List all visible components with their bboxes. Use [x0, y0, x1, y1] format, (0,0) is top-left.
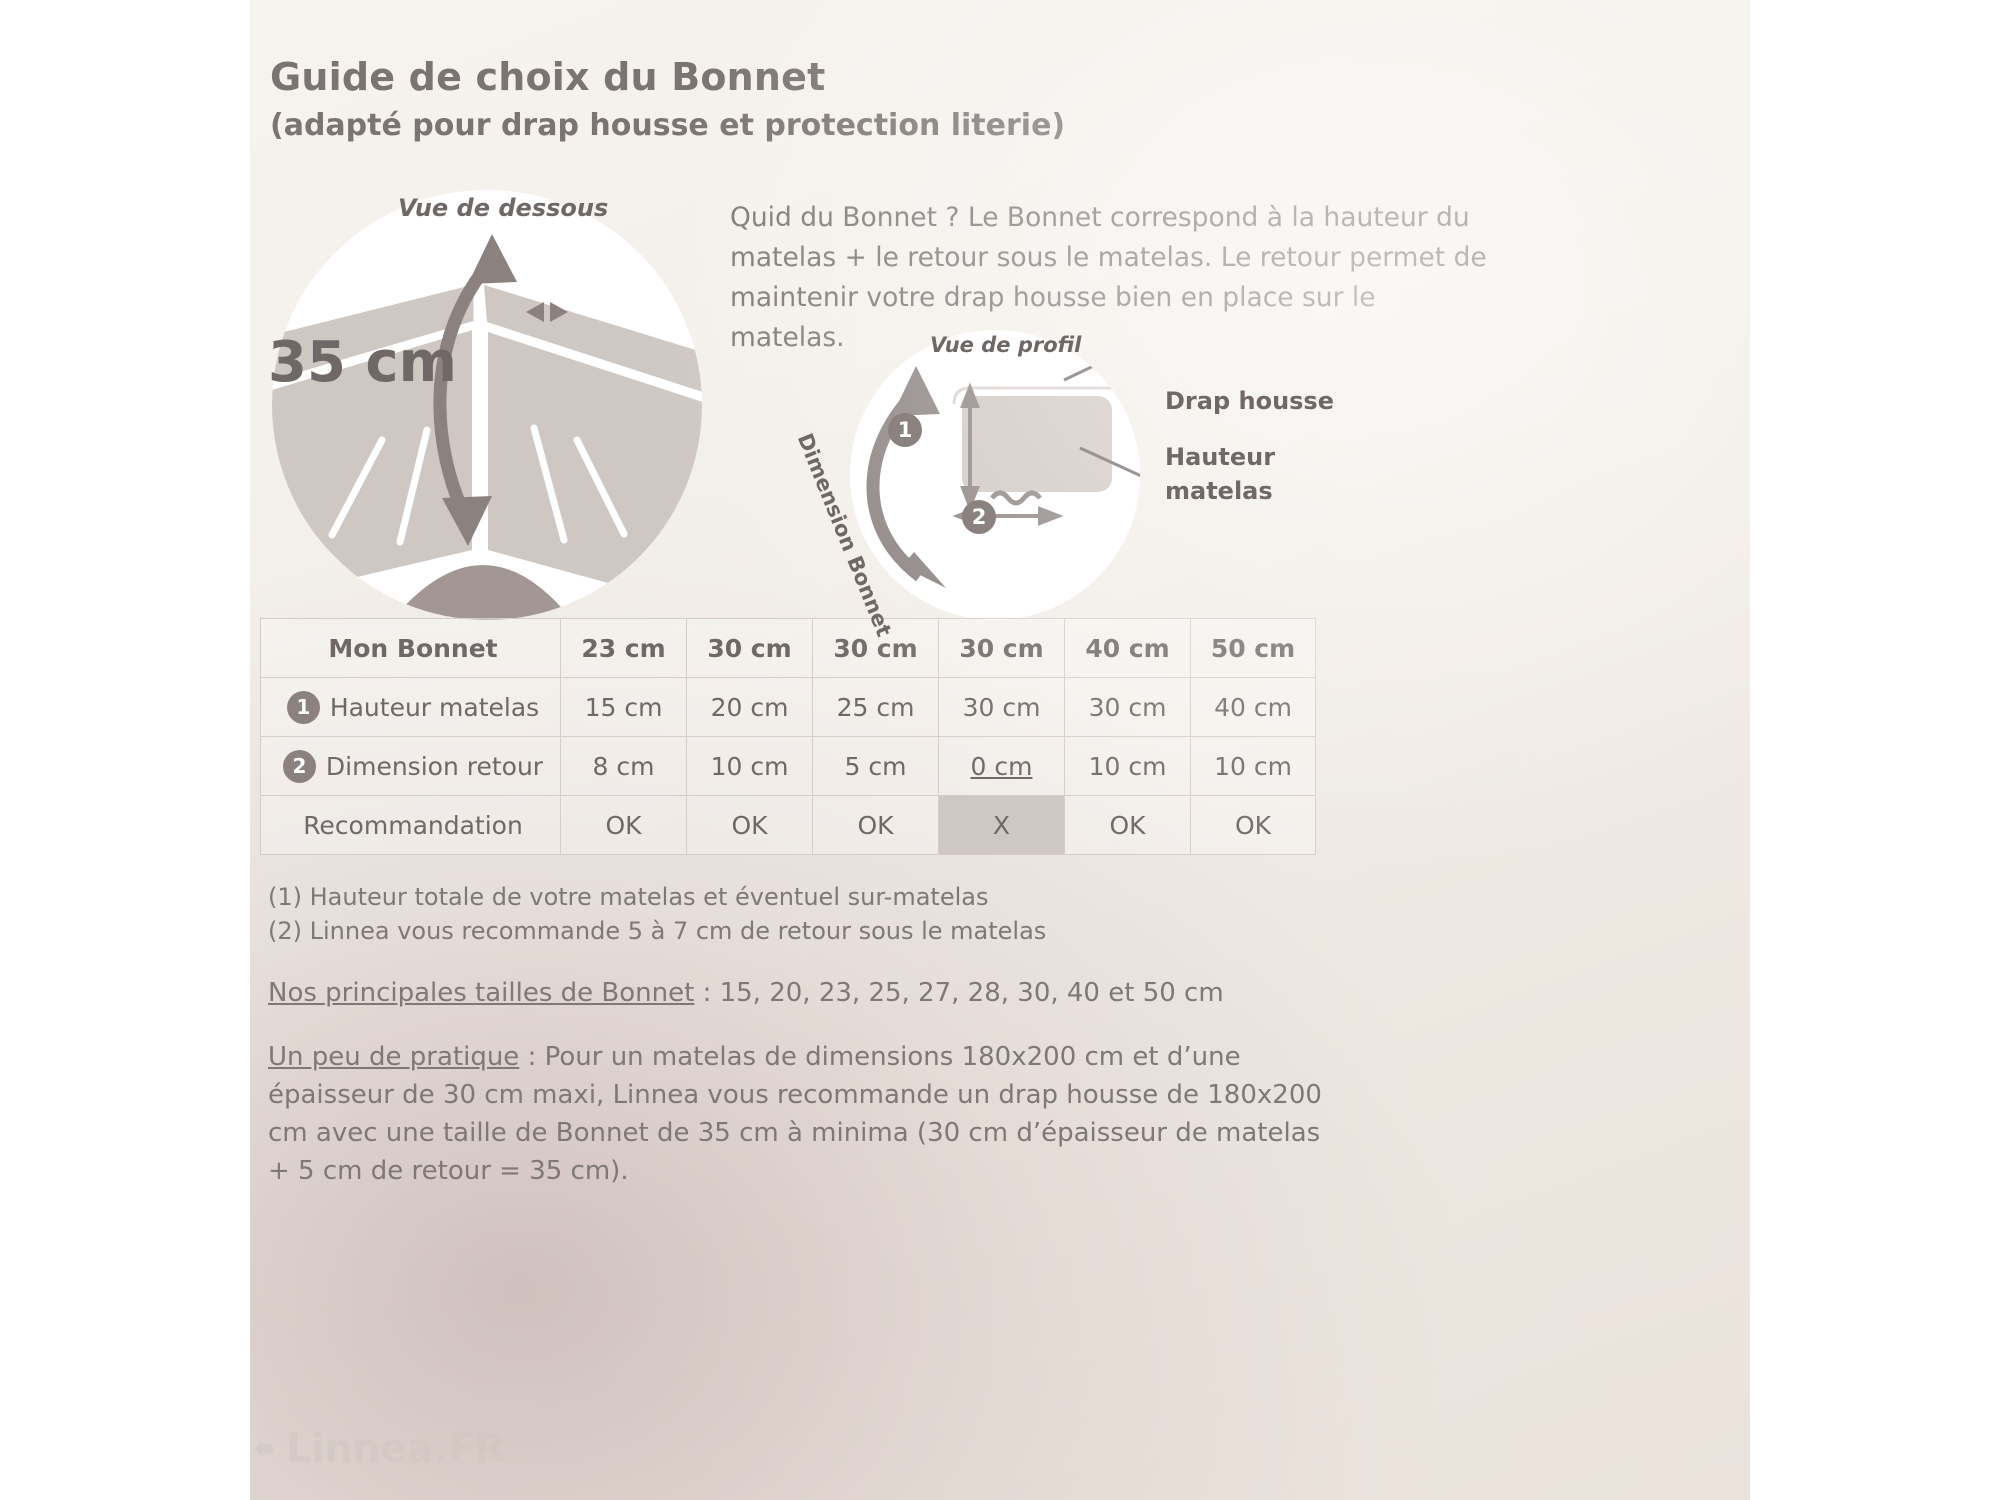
infographic-canvas: Guide de choix du Bonnet (adapté pour dr…: [250, 0, 1750, 1500]
practice-note-label: Un peu de pratique: [268, 1042, 519, 1072]
table-cell: OK: [561, 796, 687, 855]
table-col-header-6: 50 cm: [1191, 619, 1316, 678]
page-subtitle: (adapté pour drap housse et protection l…: [270, 108, 1065, 143]
profile-view-svg: [850, 330, 1140, 620]
profile-view-illustration: [850, 330, 1140, 620]
footnote-1: (1) Hauteur totale de votre matelas et é…: [268, 880, 1328, 914]
bonnet-table-wrapper: Mon Bonnet 23 cm 30 cm 30 cm 30 cm 40 cm…: [260, 618, 1315, 855]
intro-paragraph: Quid du Bonnet ? Le Bonnet correspond à …: [730, 198, 1490, 358]
table-cell: OK: [1065, 796, 1191, 855]
row-label-text: Recommandation: [303, 811, 523, 840]
table-cell: 15 cm: [561, 678, 687, 737]
row-label-text: Hauteur matelas: [330, 693, 539, 722]
leaf-icon: [250, 1436, 276, 1462]
profile-badge-1: 1: [888, 413, 922, 447]
row-label-recommandation: Recommandation: [261, 796, 561, 855]
table-cell: 10 cm: [687, 737, 813, 796]
profile-badge-2: 2: [962, 500, 996, 534]
table-header-row: Mon Bonnet 23 cm 30 cm 30 cm 30 cm 40 cm…: [261, 619, 1316, 678]
row-badge-1: 1: [287, 691, 320, 724]
row-label-hauteur-matelas: 1 Hauteur matelas: [261, 678, 561, 737]
logo-text: Linnea.FR: [286, 1426, 505, 1472]
callout-hauteur-line2: matelas: [1165, 477, 1273, 505]
callout-hauteur-line1: Hauteur: [1165, 443, 1275, 471]
bottom-view-corner-arrow: [272, 190, 702, 620]
bottom-view-measure: 35 cm: [268, 330, 457, 395]
table-cell: 30 cm: [1065, 678, 1191, 737]
sizes-note-value: : 15, 20, 23, 25, 27, 28, 30, 40 et 50 c…: [694, 978, 1223, 1008]
practice-note: Un peu de pratique : Pour un matelas de …: [268, 1038, 1328, 1190]
table-cell: 40 cm: [1191, 678, 1316, 737]
row-label-dimension-retour: 2 Dimension retour: [261, 737, 561, 796]
table-cell: OK: [1191, 796, 1316, 855]
table-cell: OK: [687, 796, 813, 855]
page-title: Guide de choix du Bonnet: [270, 55, 826, 99]
table-cell: 10 cm: [1065, 737, 1191, 796]
table-cell: 30 cm: [939, 678, 1065, 737]
table-row: Recommandation OK OK OK X OK OK: [261, 796, 1316, 855]
table-cell: 20 cm: [687, 678, 813, 737]
table-cell: 25 cm: [813, 678, 939, 737]
table-row: 1 Hauteur matelas 15 cm 20 cm 25 cm 30 c…: [261, 678, 1316, 737]
callout-drap-housse: Drap housse: [1165, 387, 1334, 415]
bottom-view-label: Vue de dessous: [398, 194, 608, 222]
table-cell: 0 cm: [939, 737, 1065, 796]
footer: Linnea.FR: [250, 1422, 1750, 1482]
footnotes: (1) Hauteur totale de votre matelas et é…: [268, 880, 1328, 1190]
row-badge-2: 2: [283, 750, 316, 783]
table-col-header-2: 30 cm: [687, 619, 813, 678]
sizes-note-label: Nos principales tailles de Bonnet: [268, 978, 694, 1008]
table-cell: 5 cm: [813, 737, 939, 796]
callout-hauteur-matelas: Hauteur matelas: [1165, 440, 1275, 508]
footnote-2: (2) Linnea vous recommande 5 à 7 cm de r…: [268, 914, 1328, 948]
table-cell: 8 cm: [561, 737, 687, 796]
table-cell: 10 cm: [1191, 737, 1316, 796]
page-root: Guide de choix du Bonnet (adapté pour dr…: [0, 0, 2000, 1500]
table-col-header-5: 40 cm: [1065, 619, 1191, 678]
sizes-note: Nos principales tailles de Bonnet : 15, …: [268, 974, 1328, 1012]
table-col-header-1: 23 cm: [561, 619, 687, 678]
table-row: 2 Dimension retour 8 cm 10 cm 5 cm 0 cm …: [261, 737, 1316, 796]
table-cell: OK: [813, 796, 939, 855]
logo: Linnea.FR: [250, 1426, 505, 1472]
bottom-view-illustration: [272, 190, 702, 620]
table-cell-underlined: 0 cm: [971, 752, 1033, 781]
table-cell-highlighted: X: [939, 796, 1065, 855]
profile-view-label: Vue de profil: [930, 333, 1081, 357]
row-label-text: Dimension retour: [326, 752, 543, 781]
bonnet-table: Mon Bonnet 23 cm 30 cm 30 cm 30 cm 40 cm…: [260, 618, 1316, 855]
table-col-header-4: 30 cm: [939, 619, 1065, 678]
table-col-header-0: Mon Bonnet: [261, 619, 561, 678]
